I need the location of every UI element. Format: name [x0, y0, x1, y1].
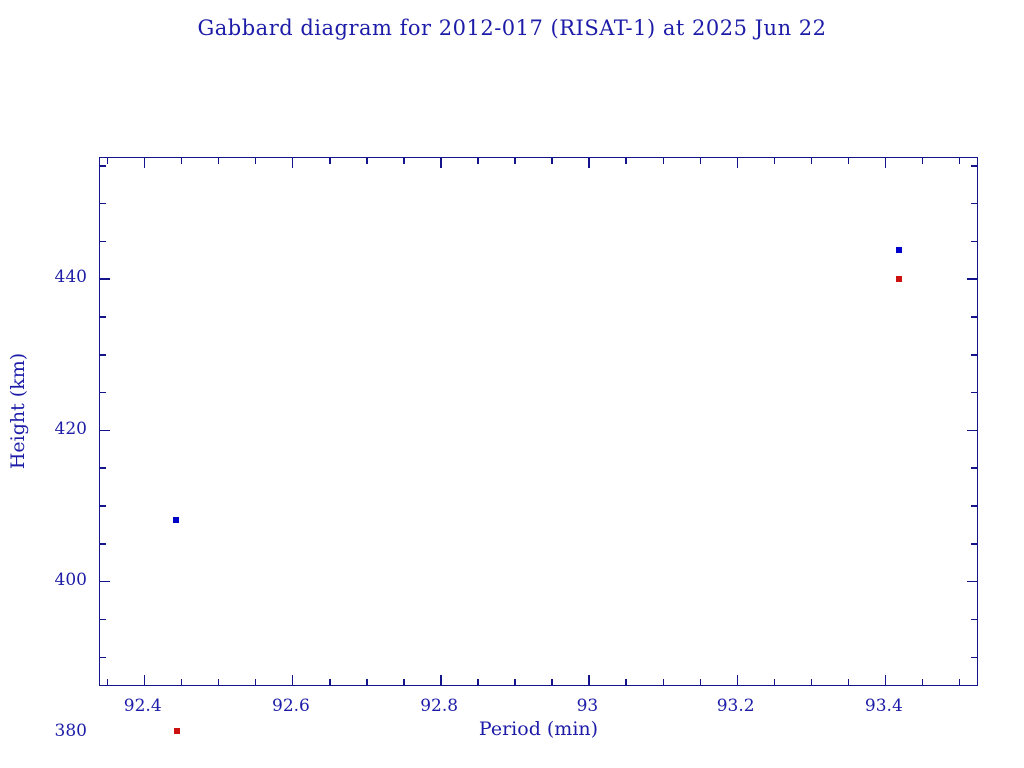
x-tick-top [959, 158, 961, 164]
x-tick [403, 679, 405, 685]
x-tick-top [663, 158, 665, 164]
y-tick [100, 657, 106, 659]
y-tick-right [971, 241, 977, 243]
y-tick-right [971, 392, 977, 394]
y-tick [100, 203, 106, 205]
x-tick-top [366, 158, 368, 164]
x-tick [255, 679, 257, 685]
y-tick-label: 420 [37, 419, 87, 439]
y-tick-right [971, 543, 977, 545]
y-tick-right [971, 505, 977, 507]
x-tick [663, 679, 665, 685]
y-tick-label: 440 [37, 267, 87, 287]
x-tick [774, 679, 776, 685]
x-tick [848, 679, 850, 685]
y-tick-right [971, 203, 977, 205]
x-tick-label: 93 [577, 696, 599, 716]
x-tick [477, 679, 479, 685]
plot-inner [100, 158, 977, 685]
x-tick [366, 679, 368, 685]
x-tick-top [255, 158, 257, 164]
chart-title: Gabbard diagram for 2012-017 (RISAT-1) a… [0, 16, 1024, 40]
y-tick-right [967, 581, 977, 583]
x-tick-top [292, 158, 294, 168]
x-tick-top [403, 158, 405, 164]
x-tick-top [181, 158, 183, 164]
y-tick-right [967, 278, 977, 280]
x-tick [181, 679, 183, 685]
x-tick-top [811, 158, 813, 164]
x-tick-label: 93.2 [717, 696, 755, 716]
y-tick [100, 165, 106, 167]
x-tick [625, 679, 627, 685]
x-tick [144, 675, 146, 685]
x-tick-top [551, 158, 553, 164]
x-tick-top [737, 158, 739, 168]
y-tick [100, 392, 106, 394]
x-tick-top [107, 158, 109, 164]
x-tick-top [885, 158, 887, 168]
y-tick [100, 241, 106, 243]
x-tick-label: 92.6 [272, 696, 310, 716]
gabbard-diagram: Gabbard diagram for 2012-017 (RISAT-1) a… [0, 0, 1024, 768]
y-tick-right [971, 619, 977, 621]
y-tick [100, 278, 110, 280]
y-tick-right [967, 430, 977, 432]
data-point-apogee [896, 247, 902, 253]
x-tick-top [440, 158, 442, 168]
y-tick-right [971, 316, 977, 318]
y-tick-right [971, 354, 977, 356]
y-tick [100, 467, 106, 469]
y-tick-right [971, 467, 977, 469]
x-tick-top [922, 158, 924, 164]
x-tick-label: 92.8 [420, 696, 458, 716]
y-tick-right [971, 657, 977, 659]
data-point-perigee [896, 276, 902, 282]
x-tick [514, 679, 516, 685]
x-tick-label: 92.4 [124, 696, 162, 716]
y-tick [100, 316, 106, 318]
x-tick [885, 675, 887, 685]
x-tick-top [218, 158, 220, 164]
y-tick [100, 430, 110, 432]
y-tick [100, 581, 110, 583]
x-tick-top [514, 158, 516, 164]
x-tick [292, 675, 294, 685]
y-tick-right [971, 165, 977, 167]
y-tick [100, 619, 106, 621]
x-tick-top [477, 158, 479, 164]
y-axis-label: Height (km) [7, 311, 29, 511]
x-tick [107, 679, 109, 685]
y-tick [100, 505, 106, 507]
x-tick-top [625, 158, 627, 164]
x-tick [551, 679, 553, 685]
x-tick-top [144, 158, 146, 168]
x-tick-top [700, 158, 702, 164]
x-tick-top [588, 158, 590, 168]
y-tick [100, 354, 106, 356]
x-tick [737, 675, 739, 685]
x-tick-top [329, 158, 331, 164]
x-tick [588, 675, 590, 685]
x-tick-label: 93.4 [865, 696, 903, 716]
x-tick [329, 679, 331, 685]
x-tick-top [774, 158, 776, 164]
x-tick [440, 675, 442, 685]
y-tick-label: 400 [37, 570, 87, 590]
data-point-apogee [173, 517, 179, 523]
x-axis-label: Period (min) [99, 718, 978, 740]
y-tick [100, 543, 106, 545]
plot-area [99, 157, 978, 686]
x-tick [922, 679, 924, 685]
x-tick [700, 679, 702, 685]
y-tick-label: 380 [37, 721, 87, 741]
x-tick [959, 679, 961, 685]
x-tick [811, 679, 813, 685]
x-tick [218, 679, 220, 685]
x-tick-top [848, 158, 850, 164]
